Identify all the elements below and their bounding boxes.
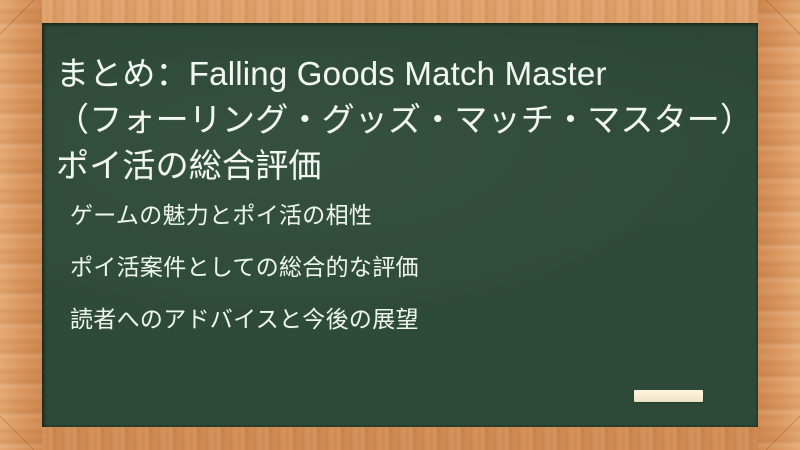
slide-title: まとめ：Falling Goods Match Master （フォーリング・グ… <box>56 51 744 189</box>
chalkboard: まとめ：Falling Goods Match Master （フォーリング・グ… <box>42 23 758 427</box>
frame-rail-left <box>0 0 42 450</box>
list-item: 読者へのアドバイスと今後の展望 <box>56 305 744 333</box>
slide-canvas: まとめ：Falling Goods Match Master （フォーリング・グ… <box>0 0 800 450</box>
chalk-stick <box>634 390 703 402</box>
list-item: ゲームの魅力とポイ活の相性 <box>56 201 744 229</box>
slide-bullet-list: ゲームの魅力とポイ活の相性 ポイ活案件としての総合的な評価 読者へのアドバイスと… <box>56 201 744 357</box>
list-item: ポイ活案件としての総合的な評価 <box>56 253 744 281</box>
frame-rail-right <box>758 0 800 450</box>
